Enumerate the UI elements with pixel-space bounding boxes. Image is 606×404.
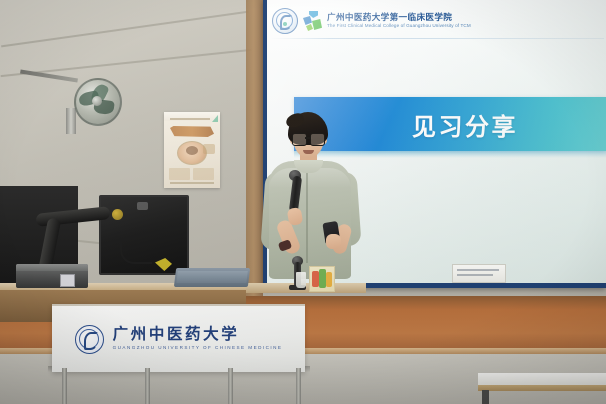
side-table-edge bbox=[478, 385, 606, 391]
poster-text-line bbox=[170, 118, 210, 120]
mark-shape bbox=[306, 24, 313, 31]
podium-front-panel: 广州中医药大学 GUANGZHOU UNIVERSITY OF CHINESE … bbox=[52, 304, 305, 372]
screenshot-root: 广州中医药大学第一临床医学院 The First Clinical Medica… bbox=[0, 0, 606, 404]
shirt-placket bbox=[306, 168, 308, 263]
presenting-student bbox=[255, 112, 363, 292]
university-seal-icon bbox=[75, 325, 104, 354]
snack-item bbox=[312, 271, 319, 287]
podium-leg bbox=[62, 368, 67, 404]
mark-shape bbox=[312, 19, 322, 30]
side-table-leg bbox=[482, 390, 489, 404]
desk-keyboard[interactable] bbox=[174, 268, 250, 287]
monitor-arm-joint bbox=[112, 209, 123, 220]
snack-item bbox=[319, 269, 326, 288]
desk-device bbox=[16, 264, 88, 288]
wall-sign bbox=[452, 264, 506, 283]
slide-org-name-en: The First Clinical Medical College of Gu… bbox=[327, 24, 471, 29]
seal-accent-dot bbox=[283, 22, 287, 26]
podium-leg bbox=[228, 368, 233, 404]
podium-text: 广州中医药大学 GUANGZHOU UNIVERSITY OF CHINESE … bbox=[113, 327, 283, 351]
desk-device-label bbox=[60, 274, 75, 287]
sign-text-line bbox=[457, 269, 499, 271]
mark-shape bbox=[309, 11, 318, 18]
university-seal-icon bbox=[272, 8, 298, 34]
keyboard-keys[interactable] bbox=[176, 271, 247, 283]
snack-item bbox=[326, 272, 332, 287]
fan-bracket bbox=[66, 108, 76, 134]
podium-leg bbox=[145, 368, 150, 404]
poster-text-line bbox=[170, 182, 214, 184]
poster-text-block bbox=[169, 168, 190, 180]
paper-cup bbox=[296, 272, 306, 288]
monitor-cable bbox=[120, 238, 152, 264]
slide-org-name-cn: 广州中医药大学第一临床医学院 bbox=[327, 13, 471, 22]
desk-surface-center bbox=[246, 283, 366, 293]
monitor-brand-logo bbox=[137, 202, 148, 210]
slide-header-text: 广州中医药大学第一临床医学院 The First Clinical Medica… bbox=[327, 13, 471, 28]
podium-name-en: GUANGZHOU UNIVERSITY OF CHINESE MEDICINE bbox=[113, 346, 283, 351]
snack-box bbox=[309, 266, 335, 292]
podium-name-cn: 广州中医药大学 bbox=[113, 327, 283, 343]
poster-headline bbox=[170, 126, 214, 137]
slide-header-divider bbox=[269, 38, 604, 39]
eyeglasses bbox=[292, 133, 325, 144]
slide-header: 广州中医药大学第一临床医学院 The First Clinical Medica… bbox=[270, 6, 602, 36]
lens-left bbox=[292, 133, 307, 146]
lens-right bbox=[310, 133, 325, 146]
wall-poster bbox=[164, 112, 220, 188]
fan-hub bbox=[92, 96, 102, 106]
wall-fan-icon bbox=[74, 78, 122, 126]
college-mark-icon bbox=[302, 10, 323, 32]
mark-shape bbox=[303, 16, 312, 25]
desk-device-lid bbox=[16, 264, 88, 271]
sign-text-line bbox=[457, 274, 493, 276]
podium-leg bbox=[296, 368, 301, 404]
poster-badge bbox=[203, 144, 215, 154]
poster-corner-mark bbox=[212, 115, 218, 122]
poster-text-block bbox=[193, 168, 214, 180]
right-hand bbox=[326, 234, 341, 249]
slide-title: 见习分享 bbox=[412, 107, 518, 142]
